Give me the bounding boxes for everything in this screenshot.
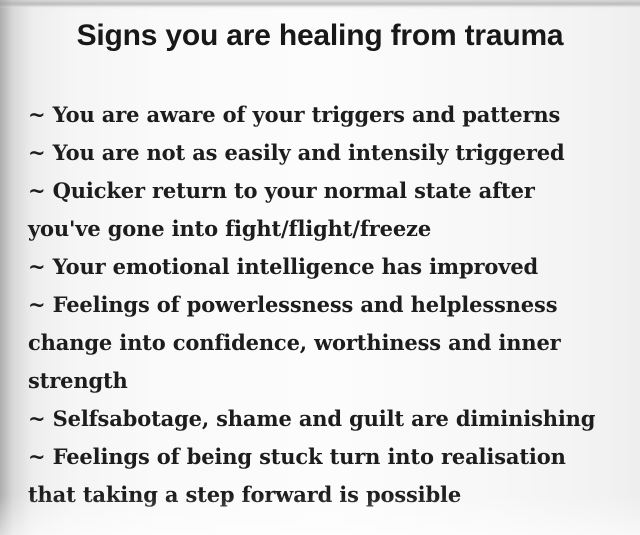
list-item-continuation: you've gone into fight/flight/freeze: [28, 210, 624, 248]
list-item: ~ Your emotional intelligence has improv…: [28, 248, 624, 286]
list-item-continuation: that taking a step forward is possible: [28, 476, 624, 514]
healing-signs-list: ~ You are aware of your triggers and pat…: [28, 96, 624, 514]
list-item: ~ Feelings of being stuck turn into real…: [28, 438, 624, 476]
page-title: Signs you are healing from trauma: [0, 19, 640, 53]
quote-image: Signs you are healing from trauma ~ You …: [0, 0, 640, 535]
list-item-continuation: strength: [28, 362, 624, 400]
list-item: ~ Selfsabotage, shame and guilt are dimi…: [28, 400, 624, 438]
list-item-continuation: change into confidence, worthiness and i…: [28, 324, 624, 362]
list-item: ~ You are aware of your triggers and pat…: [28, 96, 624, 134]
list-item: ~ Quicker return to your normal state af…: [28, 172, 624, 210]
top-edge-shading: [0, 0, 640, 9]
list-item: ~ Feelings of powerlessness and helpless…: [28, 286, 624, 324]
list-item: ~ You are not as easily and intensily tr…: [28, 134, 624, 172]
